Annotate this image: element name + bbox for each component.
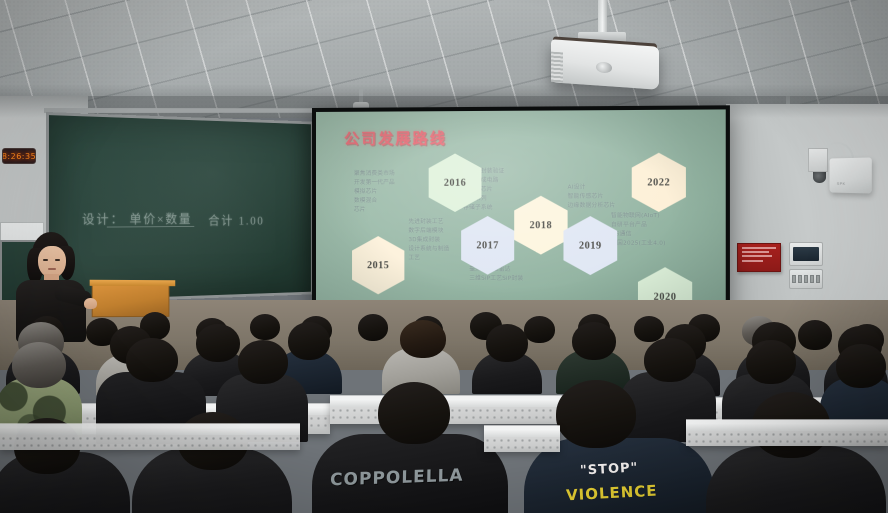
student-head: [12, 342, 66, 388]
speaker-label: SPK: [837, 181, 846, 186]
lectern-top: [90, 280, 176, 286]
breaker-switch[interactable]: [792, 275, 796, 283]
desk-lip: [686, 423, 888, 431]
presenter-eye-left: [43, 259, 48, 261]
chalkboard-frame-top: [44, 108, 315, 113]
hex-2016-label: 2016: [444, 177, 466, 188]
hex-2017-label: 2017: [476, 240, 498, 251]
hex-2019[interactable]: 2019: [563, 216, 617, 275]
desk-perforation: [0, 435, 300, 447]
student-head: [250, 314, 280, 340]
desk-row-foreground-left: [0, 424, 300, 450]
desk-row-foreground-right: [686, 420, 888, 446]
student-head: [798, 320, 832, 350]
control-panel-display: [793, 247, 819, 261]
desk-row-center: [330, 396, 580, 424]
wall-control-panel[interactable]: [789, 242, 823, 266]
student-head: [358, 314, 388, 341]
student-head: [238, 340, 288, 384]
student-head: [400, 320, 446, 358]
notice-text-line: [742, 247, 776, 249]
projection-screen: 公司发展路线 聚焦消费类市场 开发第一代产品 模拟芯片 数模混合 芯片 先进封装…: [312, 105, 730, 318]
led-clock-text: 8:26:35: [2, 152, 36, 161]
hex-2019-label: 2019: [579, 240, 602, 251]
hex-2015-label: 2015: [367, 260, 389, 271]
desk-row-foreground-mid: [484, 426, 560, 452]
led-clock-sign: 8:26:35: [2, 148, 36, 164]
breaker-switch[interactable]: [798, 275, 802, 283]
hex-2022-label: 2022: [647, 177, 670, 188]
breaker-switch[interactable]: [810, 275, 814, 283]
student-head: [126, 338, 178, 382]
slide-title: 公司发展路线: [344, 127, 447, 149]
desk-lip: [0, 427, 300, 435]
notice-text-line: [742, 251, 769, 253]
projector-vent: [551, 52, 563, 83]
breaker-switch[interactable]: [816, 275, 820, 283]
presenter-eye-right: [55, 259, 60, 261]
student-head: [288, 322, 330, 360]
student-head: [572, 322, 616, 360]
notice-text-line: [742, 260, 763, 262]
student-head: [524, 316, 555, 343]
student-head: [378, 382, 450, 444]
student-head: [836, 344, 886, 388]
notice-text-line: [742, 255, 772, 257]
breaker-panel[interactable]: [789, 269, 823, 289]
student-head: [196, 324, 240, 362]
hex-2018-label: 2018: [530, 220, 553, 231]
slide-note-2022: 智能物联网(AIoT) 自研平台产品 5G通信 中国2025(工业4.0): [611, 212, 698, 249]
student-head: [634, 316, 664, 342]
student-head: [486, 324, 528, 362]
lecture-hall-photo: 8:26:35 SPK 设计： 单价×数量 合计 1.00 公司发展路线: [0, 0, 888, 513]
chalkboard-line-1: 设计： 单价×数量: [82, 209, 192, 228]
desk-lip: [484, 429, 560, 437]
desk-perforation: [484, 437, 560, 449]
chalkboard-line-2: 合计 1.00: [208, 211, 264, 229]
slide-surface: 公司发展路线 聚焦消费类市场 开发第一代产品 模拟芯片 数模混合 芯片 先进封装…: [316, 109, 726, 314]
student-head: [746, 340, 796, 384]
student-head: [644, 338, 696, 382]
desk-lip: [330, 399, 580, 407]
slide-note-2015: 聚焦消费类市场 开发第一代产品 模拟芯片 数模混合 芯片: [354, 170, 416, 216]
wall-speaker: SPK: [829, 157, 871, 193]
presenter-mouth: [48, 268, 56, 270]
student-head: [556, 380, 636, 448]
security-camera-icon: [813, 172, 826, 183]
student-jacket-coppolella: [312, 434, 508, 513]
red-wall-notice: [737, 243, 781, 272]
desk-perforation: [686, 431, 888, 443]
breaker-switch[interactable]: [804, 275, 808, 283]
desk-perforation: [330, 407, 580, 421]
hex-2015[interactable]: 2015: [352, 236, 404, 294]
speaker-bracket: [808, 148, 828, 172]
presenter-hand: [84, 298, 97, 309]
